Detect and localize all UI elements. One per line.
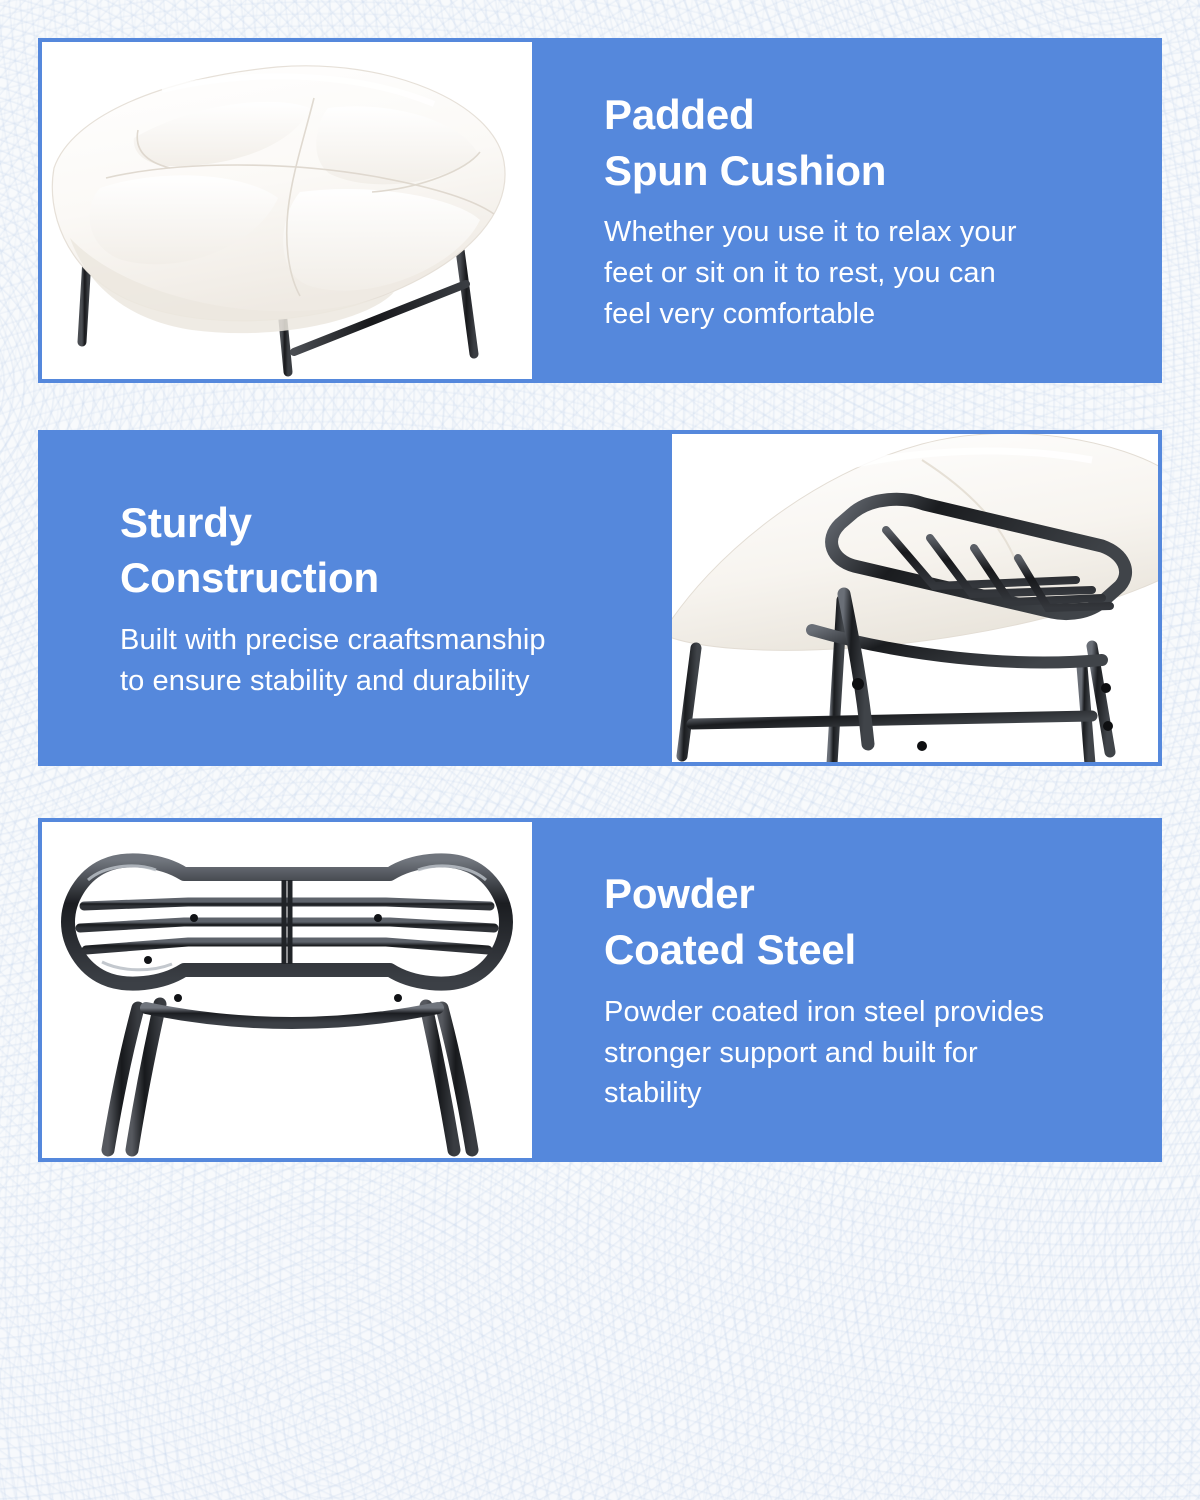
feature-copy-sturdy-construction: Sturdy Construction Built with precise c… bbox=[38, 430, 672, 766]
feature-description: Powder coated iron steel provides strong… bbox=[604, 992, 1122, 1114]
product-photo-frame-underside bbox=[672, 434, 1158, 762]
cushion-ottoman-illustration bbox=[42, 42, 532, 379]
feature-panel-padded-spun-cushion: Padded Spun Cushion Whether you use it t… bbox=[38, 38, 1162, 383]
product-feature-infographic: Padded Spun Cushion Whether you use it t… bbox=[0, 0, 1200, 1200]
feature-description: Built with precise craaftsmanship to ens… bbox=[120, 620, 642, 701]
feature-description: Whether you use it to relax your feet or… bbox=[604, 212, 1122, 334]
product-photo-steel-frame bbox=[42, 822, 532, 1158]
feature-panel-powder-coated-steel: Powder Coated Steel Powder coated iron s… bbox=[38, 818, 1162, 1162]
feature-headline: Padded Spun Cushion bbox=[604, 87, 1122, 199]
product-photo-cushion bbox=[42, 42, 532, 379]
feature-panel-sturdy-construction: Sturdy Construction Built with precise c… bbox=[38, 430, 1162, 766]
steel-frame-illustration bbox=[42, 822, 532, 1158]
feature-copy-powder-coated-steel: Powder Coated Steel Powder coated iron s… bbox=[532, 818, 1162, 1162]
feature-copy-padded-spun-cushion: Padded Spun Cushion Whether you use it t… bbox=[532, 38, 1162, 383]
ottoman-underside-illustration bbox=[672, 434, 1158, 762]
feature-headline: Powder Coated Steel bbox=[604, 866, 1122, 978]
feature-headline: Sturdy Construction bbox=[120, 495, 642, 607]
